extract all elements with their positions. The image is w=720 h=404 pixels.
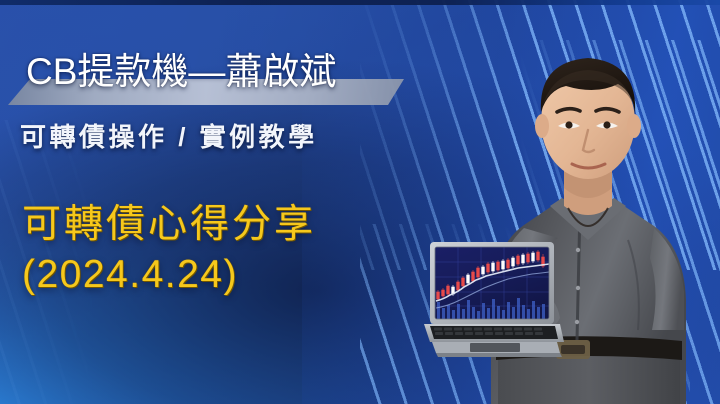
headline-group: 可轉債心得分享 (2024.4.24) (22, 200, 316, 300)
video-thumbnail: CB提款機—蕭啟斌 可轉債操作 / 實例教學 可轉債心得分享 (2024.4.2… (0, 0, 720, 404)
sub-title: 可轉債操作 / 實例教學 (20, 121, 318, 153)
text-block: CB提款機—蕭啟斌 可轉債操作 / 實例教學 可轉債心得分享 (2024.4.2… (0, 0, 430, 404)
main-title: CB提款機—蕭啟斌 (26, 50, 336, 94)
headline-text: 可轉債心得分享 (22, 203, 316, 246)
laptop-device (424, 238, 564, 360)
headline-date: (2024.4.24) (22, 250, 316, 300)
